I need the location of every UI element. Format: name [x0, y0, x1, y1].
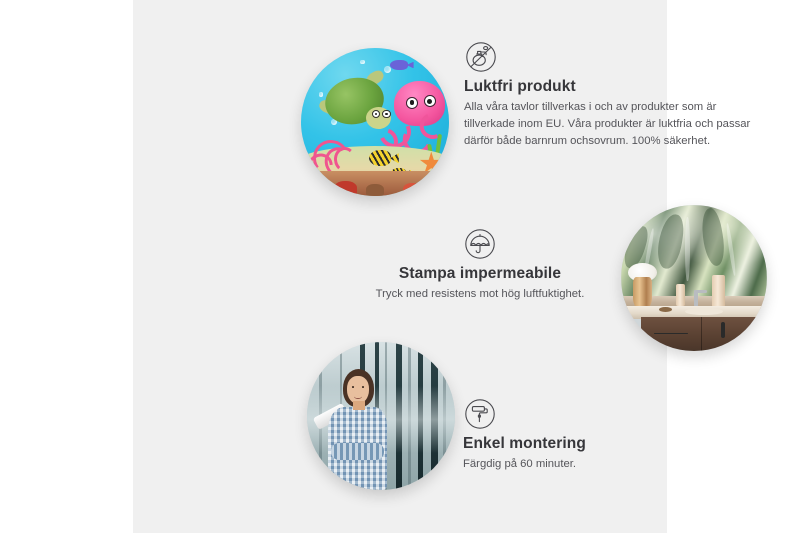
- umbrella-icon: [464, 228, 496, 260]
- product-image-painter: [307, 342, 455, 490]
- painter-scene: [307, 342, 455, 490]
- drawer-handle: [654, 333, 687, 334]
- soap-bottle: [676, 284, 685, 306]
- vase: [633, 277, 652, 309]
- paint-roller-icon: [464, 398, 496, 430]
- cabinet-seam: [701, 317, 702, 351]
- feature-waterproof: Stampa impermeabile Tryck med resistens …: [348, 228, 612, 303]
- bathroom-scene: [621, 205, 767, 351]
- feature-title: Luktfri produkt: [464, 77, 754, 96]
- feature-title: Enkel montering: [463, 434, 693, 453]
- octopus-eye: [406, 97, 418, 109]
- soap-bottle: [712, 275, 725, 307]
- feature-title: Stampa impermeabile: [348, 264, 612, 283]
- underwater-scene: [301, 48, 449, 196]
- rock: [366, 184, 384, 196]
- rock: [334, 181, 358, 196]
- fish-icon: [369, 150, 391, 166]
- person-eye: [362, 386, 364, 388]
- bubble-icon: [360, 60, 364, 64]
- leaf-vein: [685, 217, 689, 281]
- feature-easy-install: Enkel montering Färgdig på 60 minuter.: [463, 398, 693, 473]
- feature-description: Färgdig på 60 minuter.: [463, 456, 693, 473]
- faucet-arm: [694, 290, 707, 294]
- feature-odourless: Luktfri produkt Alla våra tavlor tillver…: [464, 41, 754, 149]
- person-arms: [331, 443, 384, 461]
- product-image-bathroom: [621, 205, 767, 351]
- rock: [403, 183, 422, 196]
- octopus-eye: [424, 95, 436, 107]
- product-image-underwater: [301, 48, 449, 196]
- feature-description: Alla våra tavlor tillverkas i och av pro…: [464, 99, 754, 149]
- vanity-cabinet: [641, 317, 767, 351]
- fish-icon: [390, 60, 408, 70]
- feature-description: Tryck med resistens mot hög luftfuktighe…: [348, 286, 612, 303]
- door-handle: [721, 322, 725, 338]
- person-neck: [353, 401, 365, 410]
- bubble-icon: [319, 92, 323, 96]
- feature-panel-page: Luktfri produkt Alla våra tavlor tillver…: [0, 0, 800, 533]
- content-panel: Luktfri produkt Alla våra tavlor tillver…: [133, 0, 667, 533]
- no-smell-spray-bottle-icon: [465, 41, 497, 73]
